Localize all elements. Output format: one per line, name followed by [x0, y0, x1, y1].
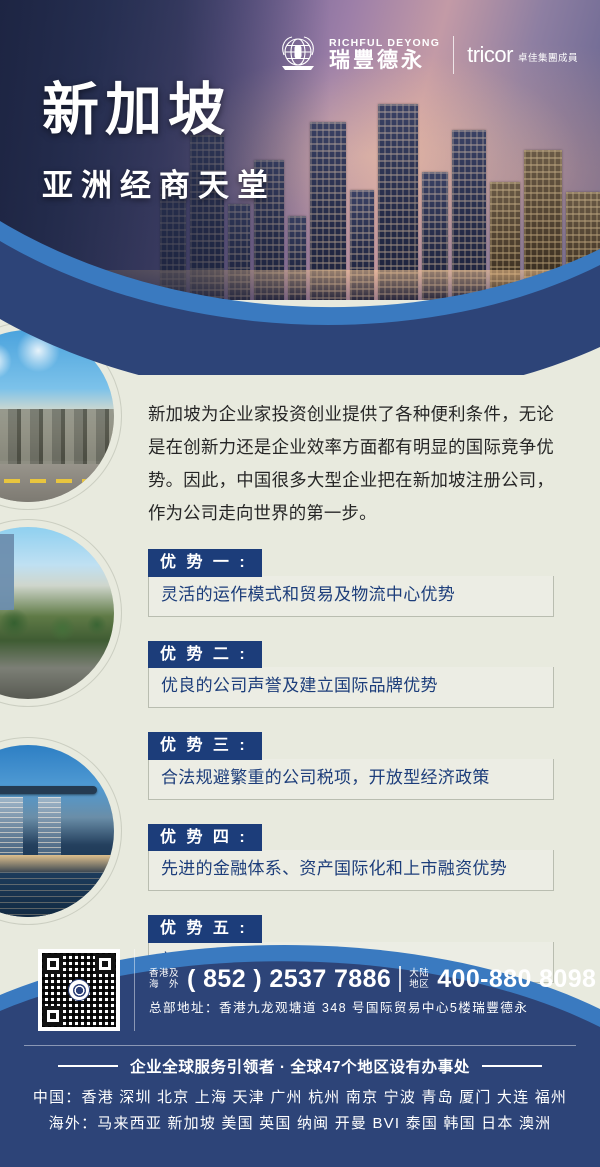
footer-divider — [24, 1045, 576, 1046]
advantage-text: 灵活的运作模式和贸易及物流中心优势 — [148, 576, 554, 617]
logo-divider — [453, 36, 454, 74]
page-title: 新加坡 — [42, 82, 231, 139]
city-greenery-photo — [0, 527, 114, 699]
partner-logo-subtext: 卓佳集團成員 — [518, 50, 578, 66]
advantage-item-3: 优 势 三 : 合法规避繁重的公司税项，开放型经济政策 — [148, 732, 554, 800]
tagline-rule-left — [58, 1065, 118, 1067]
top-curve-decoration — [0, 215, 600, 375]
qr-center-logo-icon — [68, 979, 90, 1001]
advantage-item-2: 优 势 二 : 优良的公司声誉及建立国际品牌优势 — [148, 641, 554, 709]
shield-crest-icon — [276, 33, 320, 77]
advantage-item-1: 优 势 一 : 灵活的运作模式和贸易及物流中心优势 — [148, 549, 554, 617]
tagline-rule-right — [482, 1065, 542, 1067]
office-address: 总部地址：香港九龙观塘道 348 号国际贸易中心5楼瑞豐德永 — [149, 997, 596, 1016]
qr-code[interactable] — [38, 949, 120, 1031]
tagline-text: 企业全球服务引领者 · 全球47个地区设有办事处 — [130, 1055, 470, 1077]
contact-block: 香港及 海 外 ( 852 ) 2537 7886 大陆 地区 400-880 … — [38, 949, 596, 1031]
hk-phone-label: 香港及 海 外 — [149, 968, 179, 990]
footer-tagline: 企业全球服务引领者 · 全球47个地区设有办事处 — [0, 1055, 600, 1077]
advantage-badge: 优 势 三 : — [148, 732, 262, 760]
advantage-badge: 优 势 二 : — [148, 641, 262, 669]
advantage-text: 优良的公司声誉及建立国际品牌优势 — [148, 667, 554, 708]
advantage-badge: 优 势 一 : — [148, 549, 262, 577]
partner-logo-text: tricor — [467, 44, 513, 66]
brand-logo: RICHFUL DEYONG 瑞豐德永 tricor 卓佳集團成員 — [276, 33, 578, 77]
advantage-badge: 优 势 四 : — [148, 824, 262, 852]
logo-chinese-name: 瑞豐德永 — [329, 50, 440, 72]
advantage-text: 合法规避繁重的公司税项，开放型经济政策 — [148, 759, 554, 800]
poster-root: 新加坡 亚洲经商天堂 RICHFUL DEYONG 瑞豐德永 — [0, 0, 600, 1167]
footer-content: 香港及 海 外 ( 852 ) 2537 7886 大陆 地区 400-880 … — [0, 937, 600, 1167]
cn-phone-label: 大陆 地区 — [409, 968, 429, 990]
page-subtitle: 亚洲经商天堂 — [42, 170, 276, 201]
phone-divider — [399, 966, 401, 992]
hk-phone-number[interactable]: ( 852 ) 2537 7886 — [187, 965, 391, 994]
logo-english-name: RICHFUL DEYONG — [329, 38, 440, 49]
china-regions-line: 中国：香港 深圳 北京 上海 天津 广州 杭州 南京 宁波 青岛 厦门 大连 福… — [0, 1085, 600, 1111]
intro-paragraph: 新加坡为企业家投资创业提供了各种便利条件，无论是在创新力还是企业效率方面都有明显… — [148, 398, 554, 530]
overseas-regions-line: 海外：马来西亚 新加坡 美国 英国 纳闽 开曼 BVI 泰国 韩国 日本 澳洲 — [0, 1111, 600, 1137]
cn-phone-number[interactable]: 400-880 8098 — [437, 965, 596, 994]
regions-list: 中国：香港 深圳 北京 上海 天津 广州 杭州 南京 宁波 青岛 厦门 大连 福… — [0, 1085, 600, 1137]
phone-numbers: 香港及 海 外 ( 852 ) 2537 7886 大陆 地区 400-880 … — [149, 965, 596, 994]
